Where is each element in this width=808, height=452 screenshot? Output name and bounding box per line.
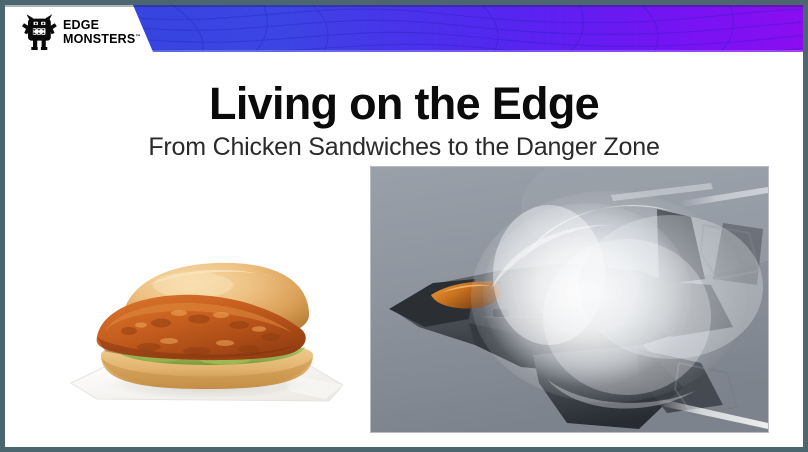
presentation-slide: EDGE MONSTERS™ Living on the Edge From C… (0, 0, 808, 452)
slide-title: Living on the Edge (5, 81, 803, 126)
fighter-jet-illustration (371, 167, 768, 432)
band-top-edge (5, 5, 803, 7)
brand-logo: EDGE MONSTERS™ (21, 12, 141, 52)
trademark-symbol: ™ (135, 34, 140, 40)
edge-monsters-monster-icon (21, 12, 59, 52)
brand-line-2: MONSTERS™ (63, 33, 141, 46)
chicken-sandwich-image (57, 233, 357, 417)
chicken-sandwich-illustration (57, 233, 357, 417)
brand-line-1: EDGE (63, 19, 141, 32)
slide-subtitle: From Chicken Sandwiches to the Danger Zo… (5, 135, 803, 160)
brand-wordmark: EDGE MONSTERS™ (63, 19, 141, 46)
fighter-jet-image (371, 167, 768, 432)
slide-canvas: EDGE MONSTERS™ Living on the Edge From C… (5, 5, 803, 447)
